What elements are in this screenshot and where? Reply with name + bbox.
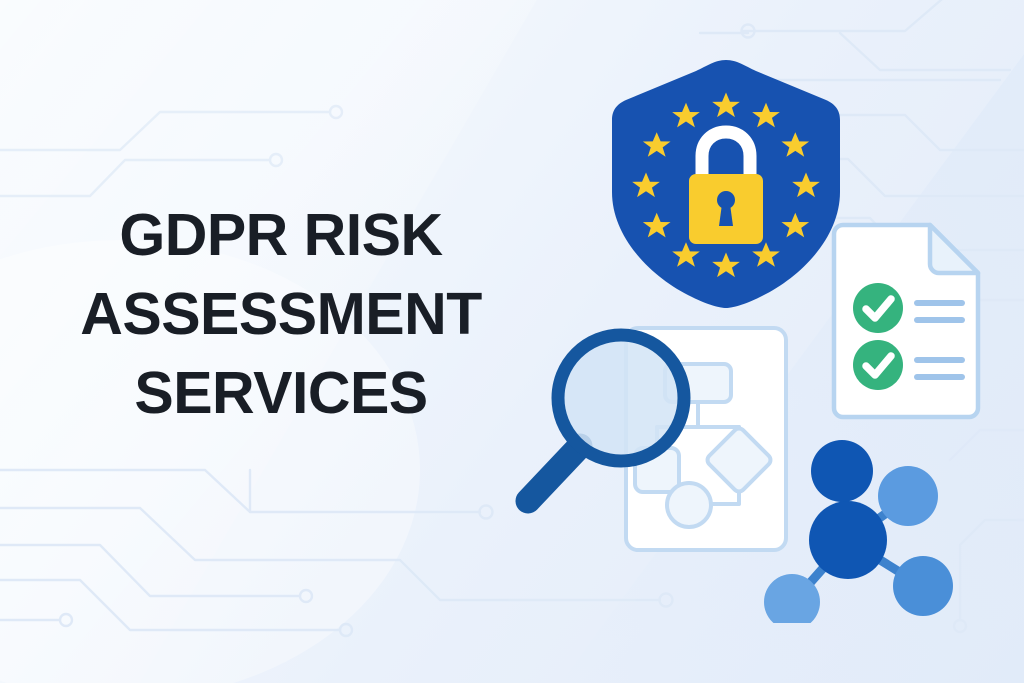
doc-line-1a — [914, 300, 965, 306]
doc-line-1b — [914, 317, 965, 323]
flowchart-node-circle — [667, 483, 711, 527]
data-network-graph-icon — [762, 438, 962, 623]
page-title: GDPR RISK ASSESSMENT SERVICES — [46, 196, 516, 433]
network-node-top — [811, 440, 873, 502]
compliance-checklist-document-icon — [820, 222, 990, 422]
gdpr-hero-banner: GDPR RISK ASSESSMENT SERVICES — [0, 0, 1024, 683]
doc-line-2a — [914, 357, 965, 363]
document-fold-corner — [930, 225, 978, 273]
eu-gdpr-shield-icon — [604, 52, 852, 308]
network-node-lower-right — [893, 556, 953, 616]
network-hub-node — [809, 501, 887, 579]
network-node-upper-right — [878, 466, 938, 526]
risk-analysis-magnifier-icon — [508, 286, 798, 571]
check-circle-1 — [853, 283, 903, 333]
doc-line-2b — [914, 374, 965, 380]
check-circle-2 — [853, 340, 903, 390]
magnifier-handle — [528, 446, 580, 501]
